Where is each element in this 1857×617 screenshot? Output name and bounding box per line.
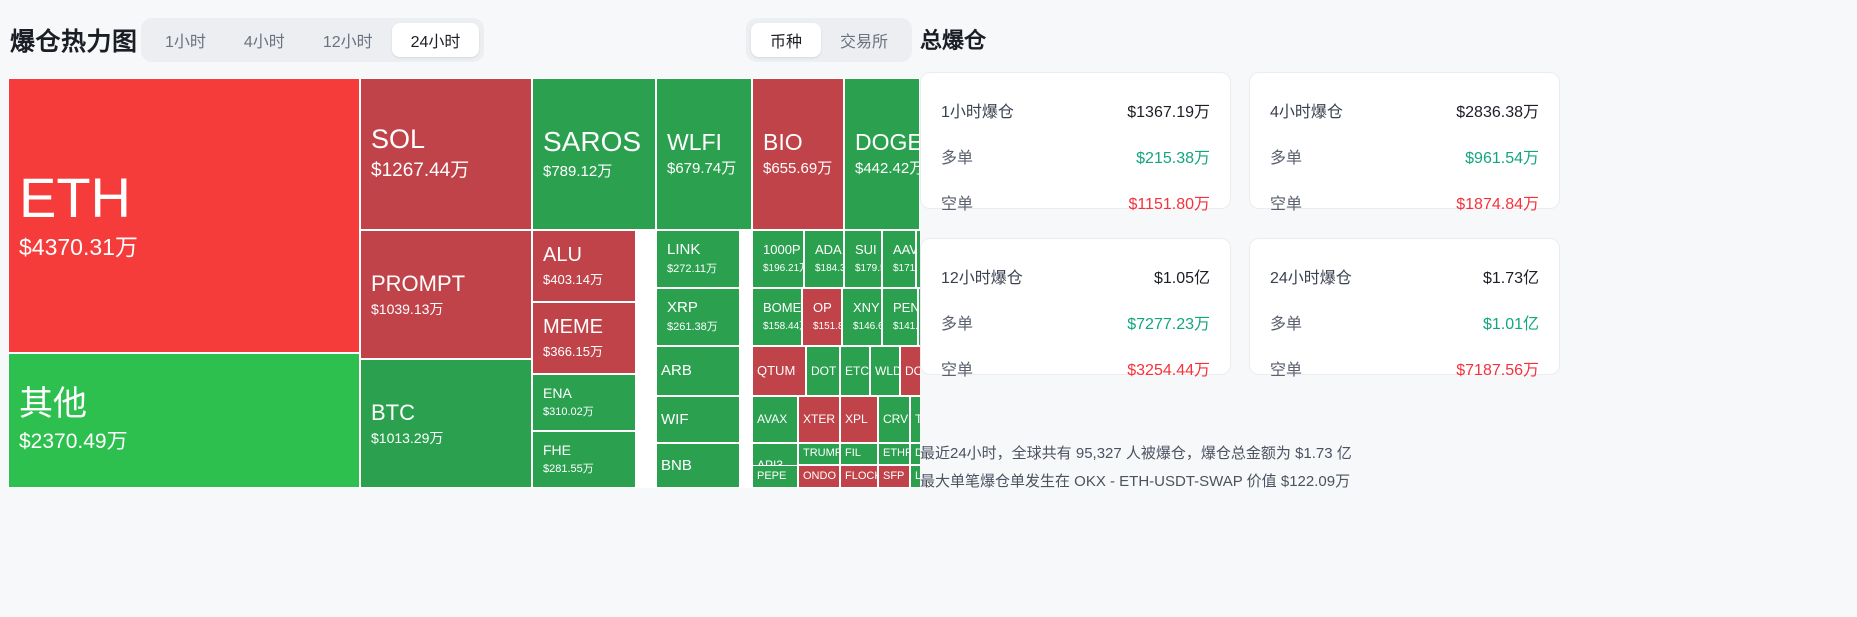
- card-long-row: 多单 $215.38万: [941, 133, 1210, 179]
- card-title: 12小时爆仓: [941, 264, 1023, 288]
- card-short-label: 空单: [941, 190, 973, 214]
- tile-symbol: BIO: [763, 130, 833, 154]
- card-short-label: 空单: [1270, 190, 1302, 214]
- card-total-row: 1小时爆仓 $1367.19万: [941, 87, 1210, 133]
- tile-symbol: ENA: [543, 386, 625, 401]
- card-total-value: $2836.38万: [1456, 98, 1539, 122]
- tile-symbol: PENG: [893, 301, 907, 315]
- card-short-row: 空单 $3254.44万: [941, 345, 1210, 391]
- tile-symbol: AVAX: [757, 413, 793, 426]
- tile-value: $1013.29万: [371, 430, 521, 447]
- tile-symbol: ETH: [19, 169, 349, 228]
- tile-value: $261.38万: [667, 321, 729, 334]
- card-short-label: 空单: [941, 356, 973, 380]
- tile-symbol: FLOCK: [845, 471, 873, 483]
- card-short-value: $3254.44万: [1127, 356, 1210, 380]
- card-long-value: $961.54万: [1465, 144, 1539, 168]
- tile-symbol: BTC: [371, 401, 521, 424]
- treemap-tile[interactable]: SAROS$789.12万: [532, 78, 656, 230]
- tile-symbol: DOGE: [855, 130, 909, 154]
- treemap-tile[interactable]: ALU$403.14万: [532, 230, 636, 302]
- card-long-value: $1.01亿: [1483, 310, 1539, 334]
- tile-symbol: ETHFI: [883, 448, 905, 460]
- treemap-tile[interactable]: DOGS$110.02万: [900, 346, 920, 396]
- card-total-row: 12小时爆仓 $1.05亿: [941, 253, 1210, 299]
- card-short-label: 空单: [1270, 356, 1302, 380]
- tile-symbol: WIF: [661, 412, 735, 428]
- tile-value: $442.42万: [855, 160, 909, 178]
- summary-card-24h[interactable]: 24小时爆仓 $1.73亿 多单 $1.01亿 空单 $7187.56万: [1249, 238, 1560, 375]
- tile-value: $310.02万: [543, 406, 625, 419]
- note-line-2: 最大单笔爆仓单发生在 OKX - ETH-USDT-SWAP 价值 $122.0…: [920, 468, 1620, 496]
- tile-symbol: SFP: [883, 471, 905, 483]
- card-short-value: $1874.84万: [1456, 190, 1539, 214]
- tile-value: $366.15万: [543, 344, 625, 360]
- treemap-tile[interactable]: DOGE$442.42万: [844, 78, 920, 230]
- tile-value: $789.12万: [543, 163, 645, 181]
- treemap-tile[interactable]: XNY$146.61万: [842, 288, 882, 346]
- treemap-tile[interactable]: BTC$1013.29万: [360, 359, 532, 488]
- treemap-tile[interactable]: ETC$118.44万: [840, 346, 870, 396]
- tile-value: $272.11万: [667, 263, 729, 276]
- summary-card-12h[interactable]: 12小时爆仓 $1.05亿 多单 $7277.23万 空单 $3254.44万: [920, 238, 1231, 375]
- tile-symbol: WLFI: [667, 130, 741, 154]
- tile-symbol: QTUM: [757, 364, 801, 378]
- card-total-value: $1.05亿: [1154, 264, 1210, 288]
- tile-value: $655.69万: [763, 160, 833, 178]
- tile-value: $4370.31万: [19, 234, 349, 262]
- liquidation-treemap[interactable]: ETH$4370.31万其他$2370.49万SOL$1267.44万PROMP…: [8, 78, 920, 488]
- treemap-tile[interactable]: FIL$81.25万: [840, 443, 878, 465]
- tile-value: $141.05万: [893, 321, 907, 333]
- tile-symbol: BOME: [763, 301, 791, 315]
- tile-symbol: MEME: [543, 317, 625, 338]
- treemap-tile[interactable]: WLFI$679.74万: [656, 78, 752, 230]
- tile-value: $2370.49万: [19, 429, 349, 454]
- tile-symbol: OP: [813, 301, 831, 315]
- tile-symbol: ETC: [845, 365, 865, 378]
- tile-symbol: XPL: [845, 413, 873, 426]
- tile-symbol: SAROS: [543, 127, 645, 156]
- tile-symbol: LINK: [667, 242, 729, 258]
- group-mode-tabs[interactable]: 币种 交易所: [746, 18, 912, 62]
- treemap-tile[interactable]: LINK$272.11万: [656, 230, 740, 288]
- treemap-tile[interactable]: PROMPT$1039.13万: [360, 230, 532, 359]
- tile-symbol: FIL: [845, 448, 873, 460]
- treemap-tile[interactable]: XRP$261.38万: [656, 288, 740, 346]
- tile-symbol: SUI: [855, 243, 871, 257]
- card-short-row: 空单 $1151.80万: [941, 179, 1210, 225]
- treemap-tile[interactable]: ENA$310.02万: [532, 374, 636, 431]
- page-header: 爆仓热力图 1小时 4小时 12小时 24小时 币种 交易所 总爆仓: [0, 0, 1857, 78]
- tile-value: $184.30万: [815, 263, 833, 275]
- card-long-value: $7277.23万: [1127, 310, 1210, 334]
- treemap-tile[interactable]: ARB$243.90万: [656, 346, 740, 396]
- card-total-row: 4小时爆仓 $2836.38万: [1270, 87, 1539, 133]
- card-long-label: 多单: [941, 310, 973, 334]
- tile-value: $1267.44万: [371, 160, 521, 183]
- time-range-tabs[interactable]: 1小时 4小时 12小时 24小时: [141, 18, 484, 62]
- card-long-label: 多单: [1270, 310, 1302, 334]
- treemap-tile[interactable]: DOOD$77.40万: [910, 443, 920, 465]
- card-short-value: $1151.80万: [1128, 190, 1210, 214]
- card-long-label: 多单: [1270, 144, 1302, 168]
- tile-symbol: TRUMP: [803, 448, 835, 460]
- tile-symbol: ONDO: [803, 471, 835, 483]
- tab-by-coin[interactable]: 币种: [751, 23, 821, 57]
- card-long-label: 多单: [941, 144, 973, 168]
- tile-symbol: AAVE: [893, 243, 905, 257]
- treemap-tile[interactable]: FHE$281.55万: [532, 431, 636, 488]
- tile-value: $1039.13万: [371, 301, 521, 318]
- tile-symbol: XNY: [853, 301, 871, 315]
- treemap-tile[interactable]: CRV$92.30万: [878, 396, 910, 443]
- tile-symbol: ALU: [543, 245, 625, 266]
- tile-symbol: WLD: [875, 365, 895, 378]
- treemap-tile[interactable]: BOME$158.44万: [752, 288, 802, 346]
- tile-value: $281.55万: [543, 463, 625, 476]
- tile-symbol: ARB: [661, 363, 735, 379]
- summary-card-4h[interactable]: 4小时爆仓 $2836.38万 多单 $961.54万 空单 $1874.84万: [1249, 72, 1560, 209]
- tile-value: $171.02万: [893, 263, 905, 275]
- card-short-row: 空单 $1874.84万: [1270, 179, 1539, 225]
- treemap-tile[interactable]: SOL$1267.44万: [360, 78, 532, 230]
- treemap-tile[interactable]: 1000P$196.21万: [752, 230, 804, 288]
- treemap-tile[interactable]: ETH$4370.31万: [8, 78, 360, 353]
- page-title: 爆仓热力图: [10, 22, 138, 58]
- tile-value: $146.61万: [853, 321, 871, 333]
- tile-symbol: 其他: [19, 387, 349, 423]
- treemap-tile[interactable]: SUI$179.55万: [844, 230, 882, 288]
- tile-symbol: BNB: [661, 458, 735, 474]
- treemap-tile[interactable]: MEME$366.15万: [532, 302, 636, 374]
- treemap-tile[interactable]: TRUMP$83.70万: [798, 443, 840, 465]
- tile-symbol: CRV: [883, 413, 905, 426]
- tile-value: $179.55万: [855, 263, 871, 275]
- tile-value: $158.44万: [763, 321, 791, 333]
- total-liquidation-title: 总爆仓: [920, 23, 986, 55]
- tile-symbol: ADA: [815, 243, 833, 257]
- treemap-tile[interactable]: WIF$228.17万: [656, 396, 740, 443]
- card-total-row: 24小时爆仓 $1.73亿: [1270, 253, 1539, 299]
- card-long-row: 多单 $1.01亿: [1270, 299, 1539, 345]
- treemap-tile[interactable]: AVAX$102.88万: [752, 396, 798, 443]
- treemap-tile[interactable]: BIO$655.69万: [752, 78, 844, 230]
- treemap-tile[interactable]: XPL$96.11万: [840, 396, 878, 443]
- tile-symbol: PEPE: [757, 471, 793, 483]
- treemap-tile[interactable]: QTUM$128.41万: [752, 346, 806, 396]
- tile-value: $403.14万: [543, 272, 625, 288]
- card-short-row: 空单 $7187.56万: [1270, 345, 1539, 391]
- treemap-tile[interactable]: WLD$114.77万: [870, 346, 900, 396]
- tile-symbol: FHE: [543, 443, 625, 458]
- note-line-1: 最近24小时，全球共有 95,327 人被爆仓，爆仓总金额为 $1.73 亿: [920, 440, 1620, 468]
- treemap-tile[interactable]: ETHFI$79.90万: [878, 443, 910, 465]
- summary-card-1h[interactable]: 1小时爆仓 $1367.19万 多单 $215.38万 空单 $1151.80万: [920, 72, 1231, 209]
- treemap-tile[interactable]: AAVE$171.02万: [882, 230, 916, 288]
- tile-value: $151.80万: [813, 321, 831, 333]
- tile-symbol: XRP: [667, 300, 729, 316]
- treemap-tile[interactable]: PENG$141.05万: [882, 288, 918, 346]
- tile-symbol: DOT: [811, 365, 835, 378]
- tile-value: $679.74万: [667, 160, 741, 178]
- tab-12h[interactable]: 12小时: [304, 23, 392, 57]
- treemap-tile[interactable]: LTC$69.12万: [910, 465, 920, 488]
- card-short-value: $7187.56万: [1456, 356, 1539, 380]
- card-total-value: $1.73亿: [1483, 264, 1539, 288]
- card-total-value: $1367.19万: [1127, 98, 1210, 122]
- summary-note: 最近24小时，全球共有 95,327 人被爆仓，爆仓总金额为 $1.73 亿 最…: [920, 440, 1620, 496]
- tile-symbol: SOL: [371, 125, 521, 153]
- card-long-row: 多单 $7277.23万: [941, 299, 1210, 345]
- tab-by-exchange[interactable]: 交易所: [821, 23, 907, 57]
- summary-cards: 1小时爆仓 $1367.19万 多单 $215.38万 空单 $1151.80万…: [920, 72, 1560, 372]
- treemap-tile[interactable]: SFP$70.85万: [878, 465, 910, 488]
- tab-24h[interactable]: 24小时: [392, 23, 480, 57]
- treemap-tile[interactable]: BNB$214.66万: [656, 443, 740, 488]
- tab-1h[interactable]: 1小时: [146, 23, 225, 57]
- tile-symbol: PROMPT: [371, 272, 521, 295]
- treemap-tile[interactable]: TON$89.55万: [910, 396, 920, 443]
- tile-symbol: TON: [915, 413, 920, 426]
- card-title: 4小时爆仓: [1270, 98, 1343, 122]
- treemap-tile[interactable]: ADA$184.30万: [804, 230, 844, 288]
- treemap-tile[interactable]: PEPE$67.44万: [752, 465, 798, 488]
- treemap-tile[interactable]: OP$151.80万: [802, 288, 842, 346]
- liquidation-heatmap-page: 爆仓热力图 1小时 4小时 12小时 24小时 币种 交易所 总爆仓 ETH$4…: [0, 0, 1857, 617]
- treemap-tile[interactable]: DOT$121.90万: [806, 346, 840, 396]
- tab-4h[interactable]: 4小时: [225, 23, 304, 57]
- card-long-value: $215.38万: [1136, 144, 1210, 168]
- treemap-tile[interactable]: XTER$99.47万: [798, 396, 840, 443]
- tile-symbol: 1000P: [763, 243, 793, 257]
- treemap-tile[interactable]: ONDO$75.11万: [798, 465, 840, 488]
- tile-symbol: XTER: [803, 413, 835, 426]
- tile-symbol: DOGS: [905, 365, 920, 378]
- treemap-tile[interactable]: FLOCK$73.02万: [840, 465, 878, 488]
- treemap-tile[interactable]: 其他$2370.49万: [8, 353, 360, 488]
- card-long-row: 多单 $961.54万: [1270, 133, 1539, 179]
- card-title: 1小时爆仓: [941, 98, 1014, 122]
- tile-value: $196.21万: [763, 263, 793, 275]
- card-title: 24小时爆仓: [1270, 264, 1352, 288]
